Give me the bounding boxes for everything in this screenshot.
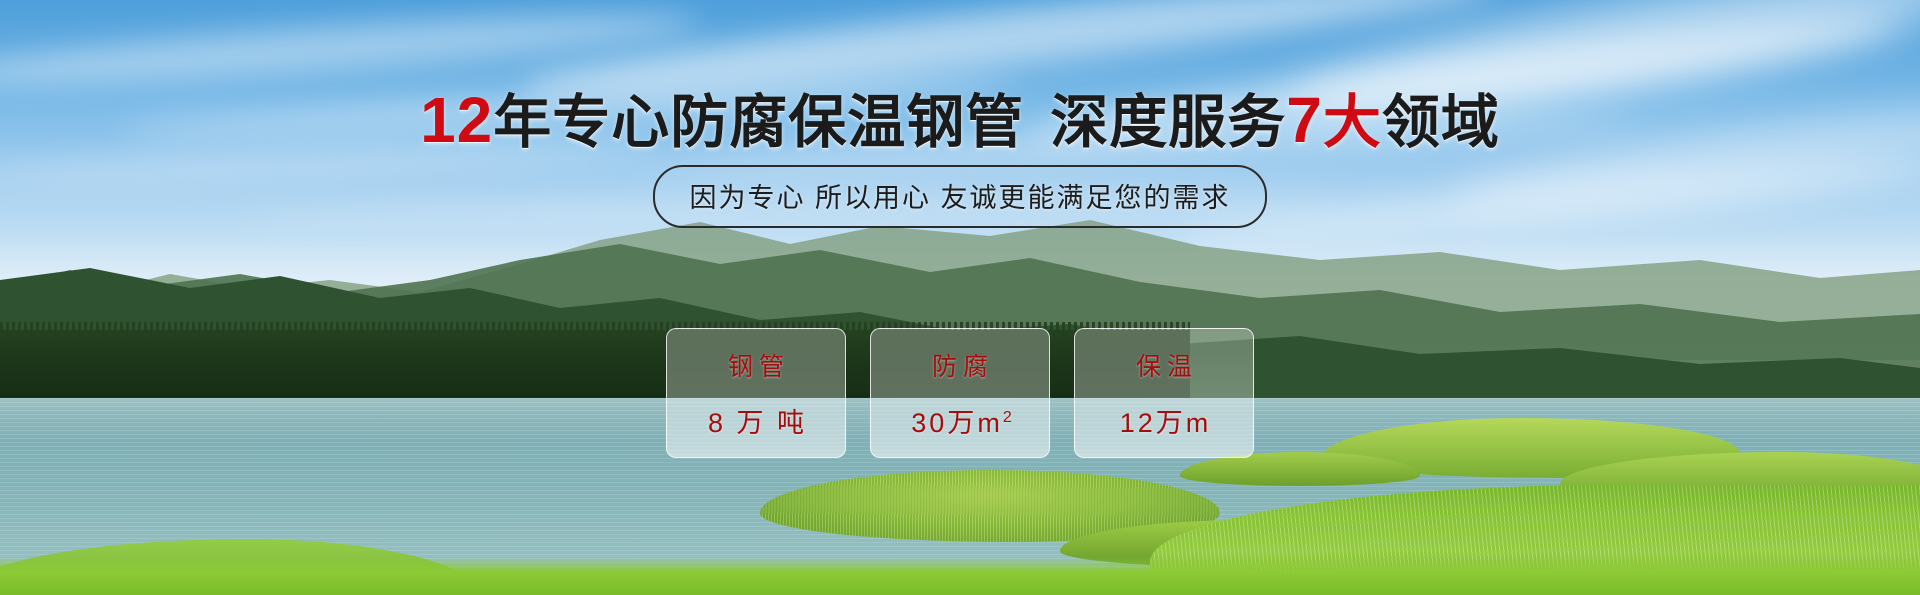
stat-card-steel-pipe: 钢管 8 万 吨: [666, 328, 846, 458]
stat-card-value: 8 万 吨: [705, 401, 807, 440]
headline-years: 12: [420, 84, 493, 156]
stat-card-title: 保温: [1130, 347, 1198, 383]
headline-da: 大: [1323, 90, 1382, 155]
headline-seven: 7: [1286, 84, 1323, 156]
stat-card-list: 钢管 8 万 吨 防腐 30万m2 保温 12万m: [0, 328, 1920, 458]
headline-main: 年专心防腐保温钢管: [493, 90, 1024, 155]
subtitle-container: 因为专心 所以用心 友诚更能满足您的需求: [0, 165, 1920, 228]
stat-value-superscript: 2: [1003, 409, 1012, 426]
hero-banner: 12年专心防腐保温钢管深度服务7大领域 因为专心 所以用心 友诚更能满足您的需求…: [0, 0, 1920, 595]
stat-value-text: 30万m: [911, 408, 1003, 438]
stat-value-text: 12万m: [1120, 408, 1212, 438]
stat-card-insulation: 保温 12万m: [1074, 328, 1254, 458]
stat-value-text: 8 万 吨: [708, 408, 807, 438]
stat-card-title: 钢管: [722, 347, 790, 383]
headline-service: 深度服务: [1050, 90, 1286, 155]
stat-card-title: 防腐: [926, 347, 994, 383]
stat-card-value: 30万m2: [908, 401, 1011, 440]
subtitle-pill: 因为专心 所以用心 友诚更能满足您的需求: [653, 165, 1266, 228]
page-title: 12年专心防腐保温钢管深度服务7大领域: [0, 88, 1920, 152]
stat-card-value: 12万m: [1117, 401, 1212, 440]
headline-fields: 领域: [1382, 90, 1500, 155]
stat-card-anticorrosion: 防腐 30万m2: [870, 328, 1050, 458]
